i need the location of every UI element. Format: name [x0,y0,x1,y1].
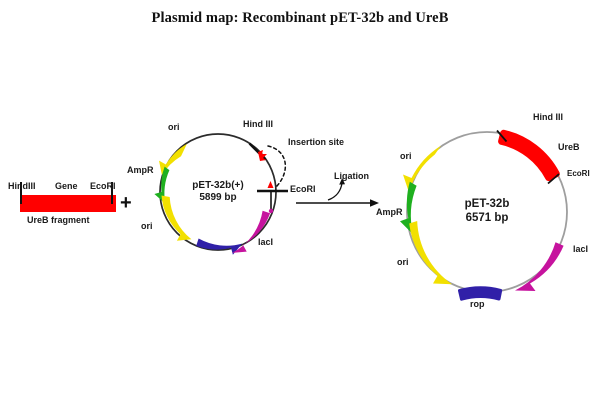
source-label-ori-upper: ori [168,123,180,133]
source-ecori-red-mark [268,181,274,188]
product-feature-ureb [502,133,557,177]
product-feature-rop [460,288,501,299]
ligation-curved-hook [328,183,342,200]
product-label-laci: lacI [573,245,588,255]
product-plasmid-size: 6571 bp [447,211,527,225]
product-plasmid-name: pET-32b [447,197,527,211]
product-label-ecori: EcoRI [567,170,590,179]
source-label-laci: lacI [258,238,273,248]
ligation-arrow-head [370,199,379,207]
product-label-ori-lower: ori [397,258,409,268]
product-label-ori-upper: ori [400,152,412,162]
source-plasmid-name: pET-32b(+) [178,180,258,193]
insertion-site-label: Insertion site [288,138,344,148]
product-label-ampr: AmpR [376,208,403,218]
ureb-fragment-bar [20,195,116,212]
source-label-hindiii: Hind III [243,120,273,130]
source-label-ecori: EcoRI [290,185,316,195]
product-feature-ori-lower [409,221,452,284]
product-label-rop: rop [470,300,485,310]
ligation-label: Ligation [334,172,369,182]
fragment-hindiii-label: HindIII [8,182,36,192]
fragment-ecori-label: EcoRI [90,182,116,192]
source-feature-ori-upper [159,144,187,175]
source-label-ori-lower: ori [141,222,153,232]
product-label-hindiii: Hind III [533,113,563,123]
fragment-gene-label: Gene [55,182,78,192]
product-label-ureb: UreB [558,143,580,153]
fragment-name-label: UreB fragment [27,216,90,226]
plus-operator: + [120,192,132,215]
source-plasmid-size: 5899 bp [178,192,258,205]
source-ecori-dot [269,209,273,213]
source-label-ampr: AmpR [127,166,154,176]
